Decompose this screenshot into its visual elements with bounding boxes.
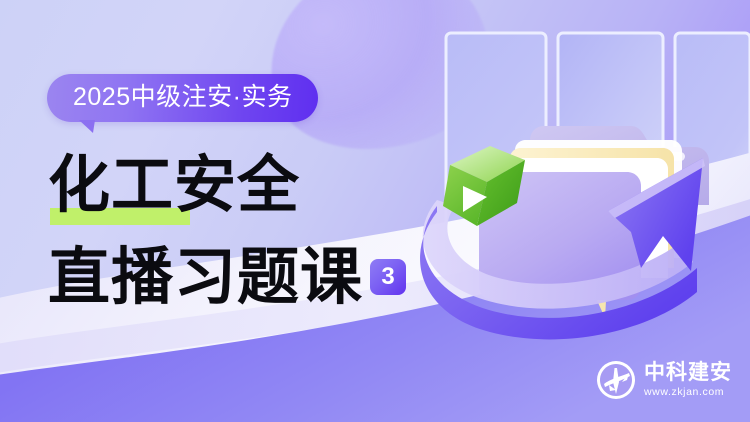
headline-line-2: 直播习题课3 bbox=[48, 242, 468, 314]
course-tag[interactable]: 2025中级注安·实务 bbox=[47, 74, 318, 122]
headline-line-2-text: 直播习题课 bbox=[48, 244, 363, 312]
brand-url: www.zkjan.com bbox=[644, 387, 732, 398]
course-tag-label: 2025中级注安·实务 bbox=[73, 83, 292, 111]
headline: 化工安全 直播习题课3 bbox=[48, 150, 468, 314]
course-banner: 2025中级注安·实务 化工安全 直播习题课3 中科建安 www.zkjan.c… bbox=[0, 0, 750, 422]
headline-line-1-text: 化工安全 bbox=[48, 152, 300, 220]
brand-logo-text: 中科建安 www.zkjan.com bbox=[644, 362, 732, 398]
course-tag-pill[interactable]: 2025中级注安·实务 bbox=[47, 74, 318, 122]
headline-line-1: 化工安全 bbox=[48, 150, 468, 222]
pill-tail bbox=[79, 120, 95, 133]
episode-badge: 3 bbox=[370, 259, 406, 295]
zkjan-circle-logo-icon bbox=[596, 360, 636, 400]
brand-name: 中科建安 bbox=[644, 362, 732, 383]
brand-logo[interactable]: 中科建安 www.zkjan.com bbox=[596, 360, 732, 400]
